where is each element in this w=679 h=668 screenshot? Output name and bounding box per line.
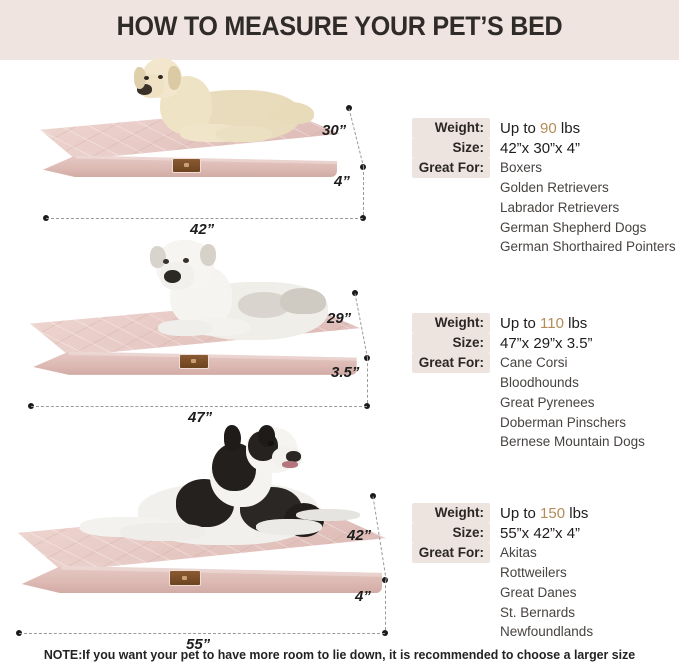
dim-line-depth [349, 108, 365, 167]
breed-item: Boxers [490, 158, 542, 178]
dog-great-dane [60, 425, 350, 555]
brand-tag [179, 354, 209, 369]
breed-item: St. Bernards [500, 603, 593, 623]
breed-item: Rottweilers [500, 563, 593, 583]
breed-item: Bloodhounds [500, 373, 645, 393]
spec-value-size: 55”x 42”x 4” [490, 525, 580, 542]
dim-line-height [385, 580, 386, 630]
spec-value-weight: Up to 110 lbs [490, 315, 587, 332]
breed-item: Cane Corsi [490, 353, 568, 373]
spec-key-great-for: Great For: [412, 158, 490, 178]
breed-item: Great Danes [500, 583, 593, 603]
spec-key-size: Size: [412, 138, 490, 158]
breed-item: Great Pyrenees [500, 393, 645, 413]
weight-number: 110 [540, 315, 564, 332]
spec-row-weight: Weight: Up to 150 lbs [412, 503, 593, 523]
spec-row-size: Size: 42”x 30”x 4” [412, 138, 676, 158]
spec-row-size: Size: 47”x 29”x 3.5” [412, 333, 645, 353]
bed-section-small: 30” 4” 42” Weight: Up to 90 lbs Size: 42… [0, 60, 679, 235]
breed-item: Newfoundlands [500, 622, 593, 642]
dim-label-height: 4” [355, 588, 371, 605]
weight-suffix: lbs [568, 315, 587, 332]
spec-panel-large: Weight: Up to 150 lbs Size: 55”x 42”x 4”… [412, 503, 593, 642]
dim-line-height [367, 358, 368, 403]
breed-item: Akitas [490, 543, 537, 563]
dog-labrador [120, 58, 310, 150]
spec-key-weight: Weight: [412, 313, 490, 333]
spec-row-weight: Weight: Up to 110 lbs [412, 313, 645, 333]
weight-prefix: Up to [500, 120, 536, 137]
spec-row-size: Size: 55”x 42”x 4” [412, 523, 593, 543]
spec-row-great-for: Great For: Akitas [412, 543, 593, 563]
bed-section-large: 42” 4” 55” Weight: Up to 150 lbs Size: 5… [0, 425, 679, 640]
spec-key-great-for: Great For: [412, 353, 490, 373]
dim-line-width [19, 633, 385, 634]
dim-line-width [46, 218, 363, 219]
weight-number: 150 [540, 505, 565, 522]
weight-prefix: Up to [500, 505, 536, 522]
spec-key-size: Size: [412, 333, 490, 353]
bed-section-medium: 29” 3.5” 47” Weight: Up to 110 lbs Size:… [0, 235, 679, 425]
spec-key-great-for: Great For: [412, 543, 490, 563]
spec-value-size: 47”x 29”x 3.5” [490, 335, 593, 352]
brand-tag [169, 570, 201, 586]
spec-value-weight: Up to 90 lbs [490, 120, 580, 137]
dim-label-height: 4” [334, 173, 350, 190]
dim-label-width: 47” [188, 409, 212, 426]
spec-row-great-for: Great For: Cane Corsi [412, 353, 645, 373]
weight-suffix: lbs [569, 505, 588, 522]
breed-item: Golden Retrievers [500, 178, 676, 198]
spec-key-weight: Weight: [412, 503, 490, 523]
footer-note: NOTE:If you want your pet to have more r… [3, 648, 675, 662]
spec-row-great-for: Great For: Boxers [412, 158, 676, 178]
dim-label-depth: 42” [347, 527, 371, 544]
dim-label-depth: 29” [327, 310, 351, 327]
dim-label-height: 3.5” [331, 364, 359, 381]
breed-list-large: Rottweilers Great Danes St. Bernards New… [500, 563, 593, 642]
page-title: HOW TO MEASURE YOUR PET’S BED [24, 11, 655, 42]
weight-prefix: Up to [500, 315, 536, 332]
spec-key-size: Size: [412, 523, 490, 543]
dim-line-height [363, 167, 364, 215]
spec-value-weight: Up to 150 lbs [490, 505, 588, 522]
spec-row-weight: Weight: Up to 90 lbs [412, 118, 676, 138]
weight-number: 90 [540, 120, 557, 137]
spec-key-weight: Weight: [412, 118, 490, 138]
dim-label-depth: 30” [322, 122, 346, 139]
breed-item: Labrador Retrievers [500, 198, 676, 218]
weight-suffix: lbs [561, 120, 580, 137]
brand-tag [172, 158, 201, 173]
dog-mastiff [130, 240, 330, 345]
dim-line-width [31, 406, 367, 407]
spec-value-size: 42”x 30”x 4” [490, 140, 580, 157]
